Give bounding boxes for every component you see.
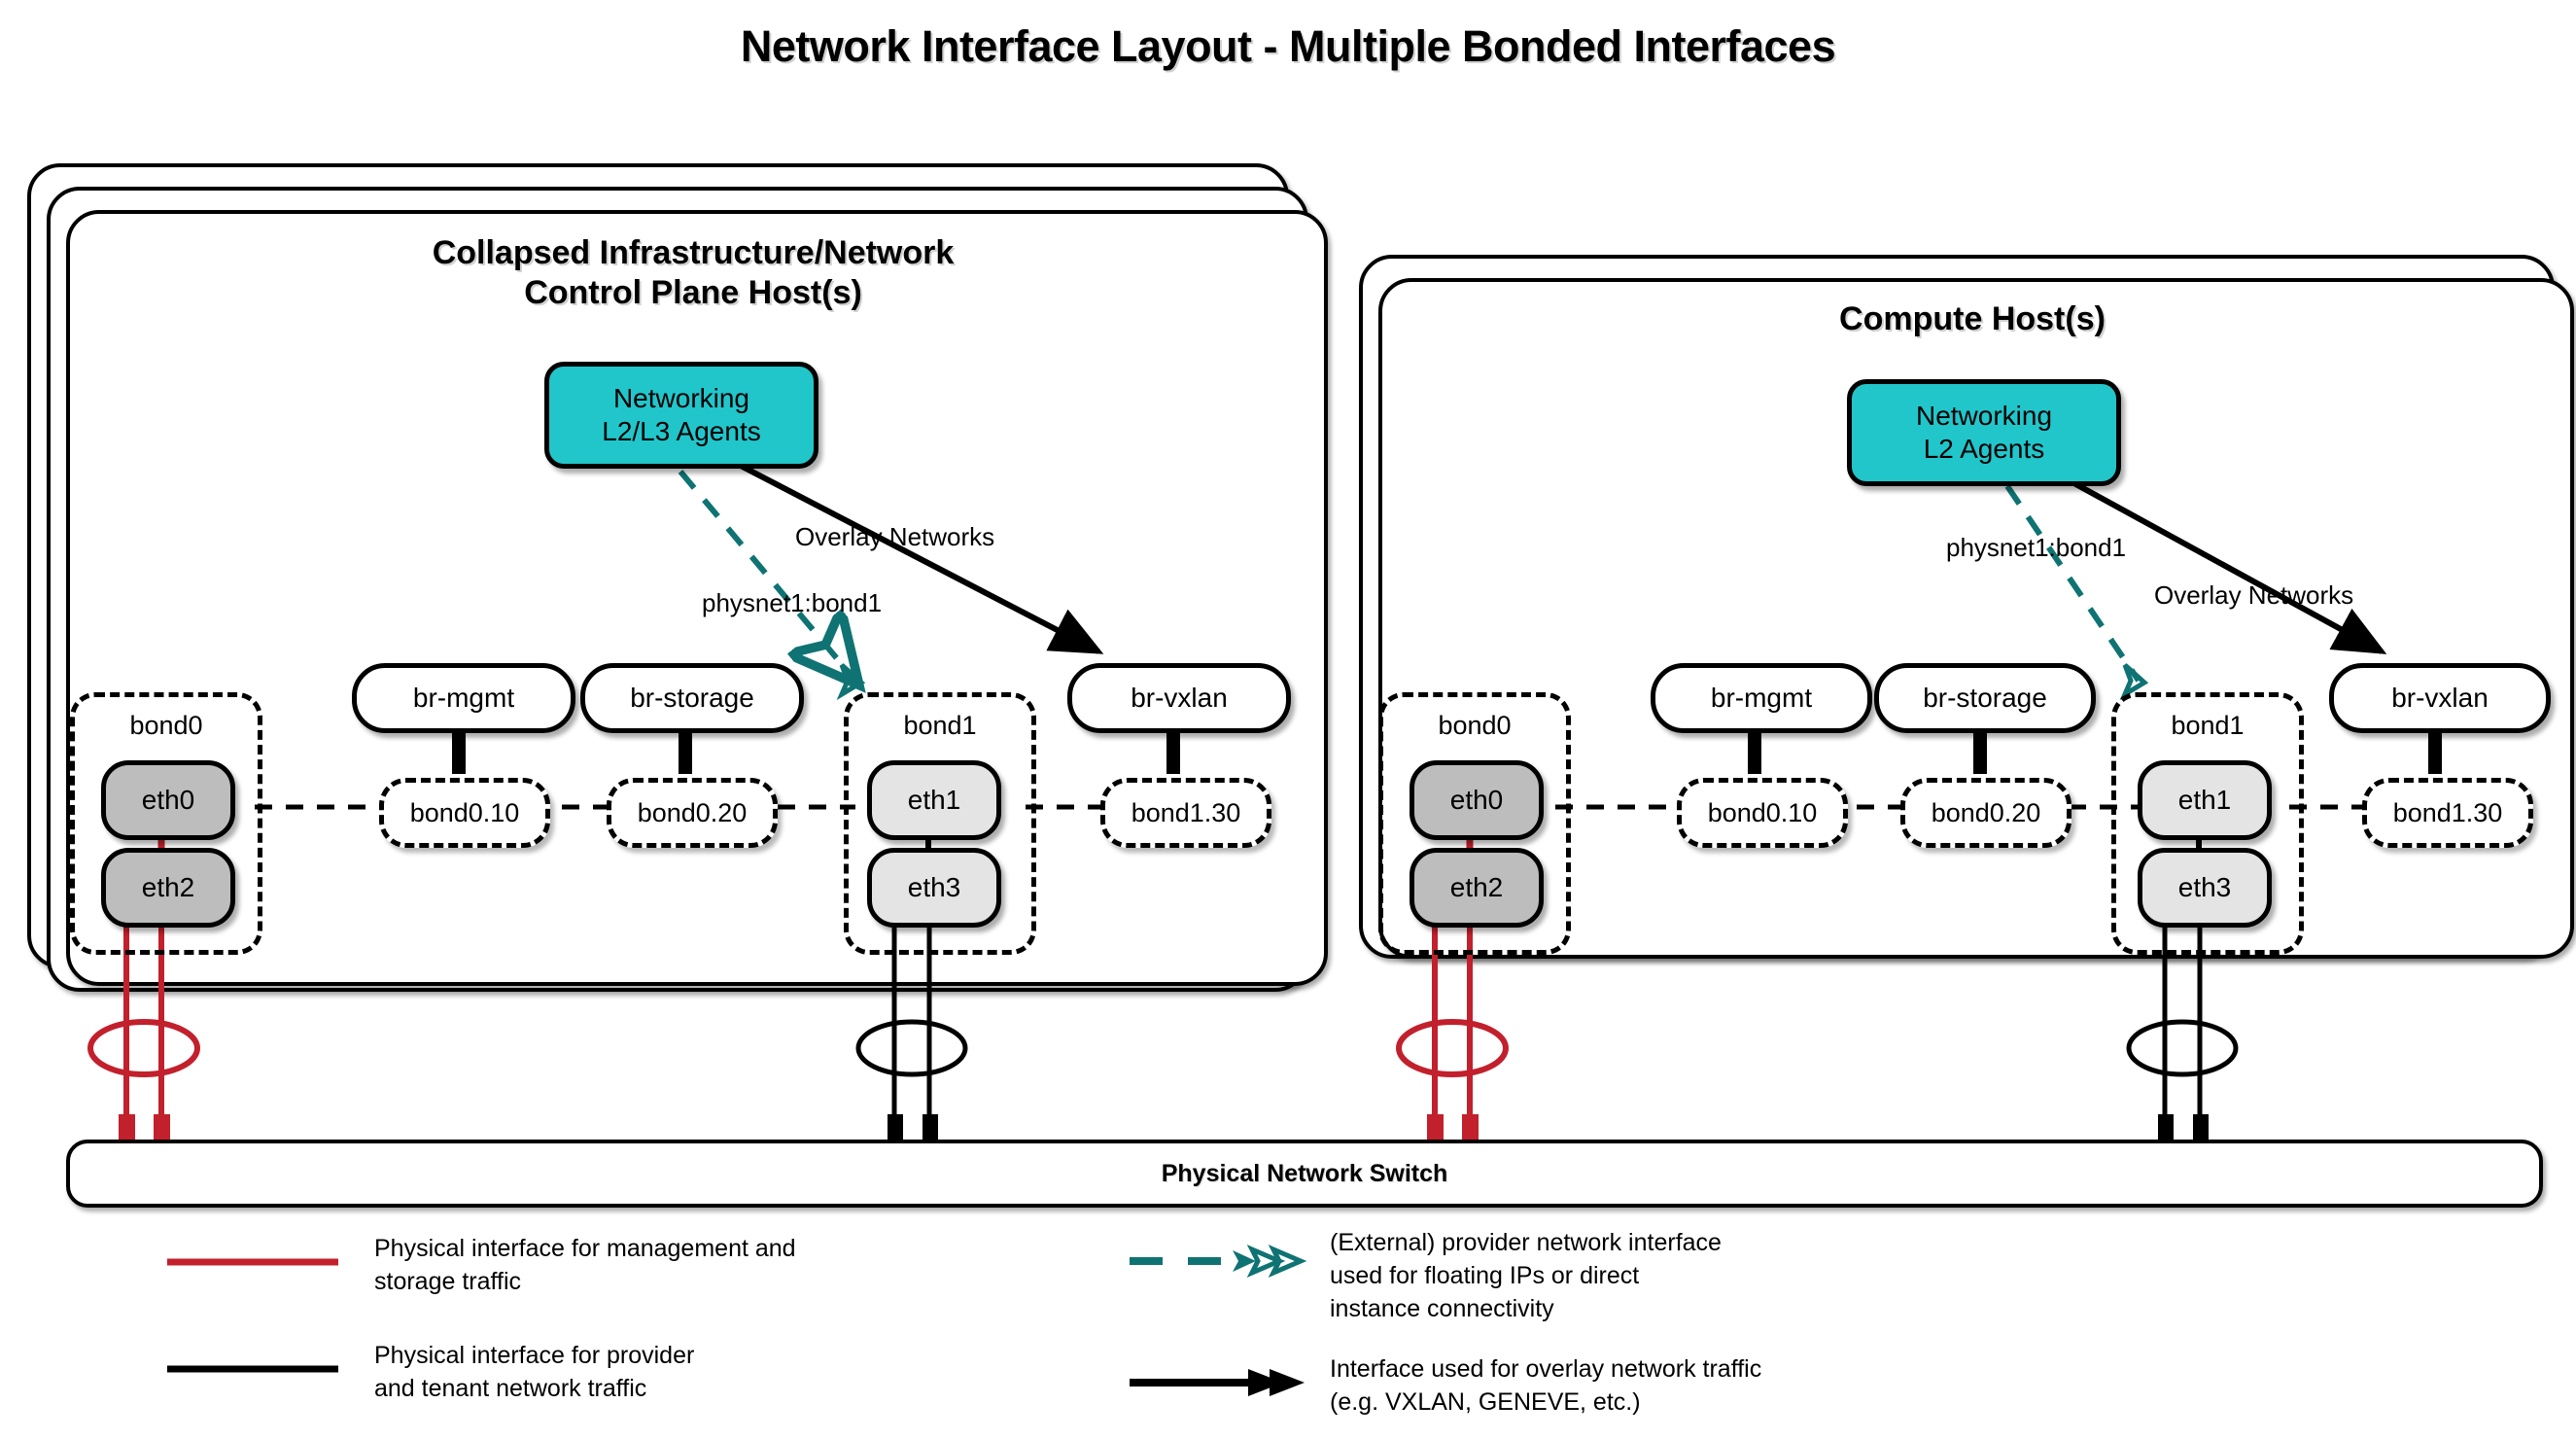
vlan-node-bond0-10-host-b[interactable]: bond0.10 — [1677, 778, 1848, 848]
vlan-node-bond1-30-host-a[interactable]: bond1.30 — [1100, 778, 1271, 848]
eth-node-eth3-host-b[interactable]: eth3 — [2138, 848, 2272, 928]
bond-group-label: bond0 — [1383, 711, 1566, 741]
bridge-stubs-host-a — [452, 721, 1180, 774]
overlay-arrow-host-a — [739, 465, 1098, 651]
overlay-networks-label-host-b: Overlay Networks — [2154, 580, 2353, 611]
agent-label-line2: L2 Agents — [1916, 433, 2052, 466]
agent-label-line2: L2/L3 Agents — [602, 415, 760, 448]
bridge-node-br-vxlan-host-a[interactable]: br-vxlan — [1067, 663, 1291, 733]
overlay-networks-label-host-a: Overlay Networks — [795, 522, 994, 552]
legend-item-mgmt-storage-text: Physical interface for management and st… — [374, 1233, 880, 1299]
physnet-dashed-arrow-host-a — [680, 472, 861, 694]
eth-label: eth2 — [142, 872, 195, 903]
vlan-label: bond0.10 — [1708, 798, 1818, 828]
eth-label: eth3 — [908, 872, 961, 903]
bridge-label: br-mgmt — [1711, 683, 1812, 714]
bridge-label: br-storage — [1923, 683, 2047, 714]
bridge-label: br-storage — [630, 683, 754, 714]
vlan-label: bond1.30 — [2393, 798, 2503, 828]
legend-item-provider-tenant-text: Physical interface for provider and tena… — [374, 1340, 880, 1406]
vlan-label: bond1.30 — [1131, 798, 1241, 828]
bridge-node-br-vxlan-host-b[interactable]: br-vxlan — [2329, 663, 2551, 733]
eth-label: eth2 — [1450, 872, 1504, 903]
eth-node-eth0-host-b[interactable]: eth0 — [1410, 760, 1544, 840]
overlay-arrow-host-b — [2071, 481, 2382, 651]
physnet-label-host-a: physnet1:bond1 — [702, 588, 882, 618]
vlan-node-bond0-20-host-a[interactable]: bond0.20 — [607, 778, 778, 848]
bridge-label: br-vxlan — [2391, 683, 2489, 714]
agent-label-line1: Networking — [602, 382, 760, 415]
bridge-label: br-mgmt — [413, 683, 514, 714]
legend-item-overlay-traffic-text: Interface used for overlay network traff… — [1330, 1353, 1932, 1420]
bond-group-label: bond1 — [849, 711, 1031, 741]
legend-item-external-provider-text: (External) provider network interface us… — [1330, 1227, 1874, 1325]
bridge-label: br-vxlan — [1131, 683, 1228, 714]
vlan-label: bond0.10 — [410, 798, 520, 828]
vlan-node-bond0-20-host-b[interactable]: bond0.20 — [1900, 778, 2071, 848]
networking-agent-node-host-b[interactable]: Networking L2 Agents — [1847, 379, 2121, 486]
bridge-node-br-mgmt-host-a[interactable]: br-mgmt — [352, 663, 575, 733]
vlan-label: bond0.20 — [1932, 798, 2041, 828]
eth-node-eth0-host-a[interactable]: eth0 — [101, 760, 235, 840]
switch-label: Physical Network Switch — [1162, 1160, 1448, 1188]
eth-label: eth3 — [2178, 872, 2232, 903]
bond-group-label: bond0 — [75, 711, 258, 741]
agent-label-line1: Networking — [1916, 400, 2052, 433]
eth-node-eth2-host-a[interactable]: eth2 — [101, 848, 235, 928]
physical-network-switch[interactable]: Physical Network Switch — [66, 1140, 2543, 1208]
eth-label: eth0 — [1450, 785, 1504, 816]
bond-group-label: bond1 — [2116, 711, 2299, 741]
vlan-label: bond0.20 — [638, 798, 748, 828]
eth-label: eth1 — [2178, 785, 2232, 816]
legend-glyph-overlay-traffic — [1130, 1369, 1305, 1396]
vlan-node-bond0-10-host-a[interactable]: bond0.10 — [379, 778, 550, 848]
eth-node-eth1-host-a[interactable]: eth1 — [867, 760, 1001, 840]
eth-node-eth3-host-a[interactable]: eth3 — [867, 848, 1001, 928]
physnet-label-host-b: physnet1:bond1 — [1946, 533, 2126, 563]
bridge-node-br-storage-host-a[interactable]: br-storage — [580, 663, 804, 733]
legend-glyph-external-provider — [1130, 1249, 1301, 1273]
eth-label: eth1 — [908, 785, 961, 816]
eth-node-eth2-host-b[interactable]: eth2 — [1410, 848, 1544, 928]
vlan-node-bond1-30-host-b[interactable]: bond1.30 — [2362, 778, 2533, 848]
bridge-node-br-mgmt-host-b[interactable]: br-mgmt — [1651, 663, 1872, 733]
bridge-node-br-storage-host-b[interactable]: br-storage — [1874, 663, 2096, 733]
eth-label: eth0 — [142, 785, 195, 816]
networking-agent-node-host-a[interactable]: Networking L2/L3 Agents — [544, 362, 818, 469]
eth-node-eth1-host-b[interactable]: eth1 — [2138, 760, 2272, 840]
